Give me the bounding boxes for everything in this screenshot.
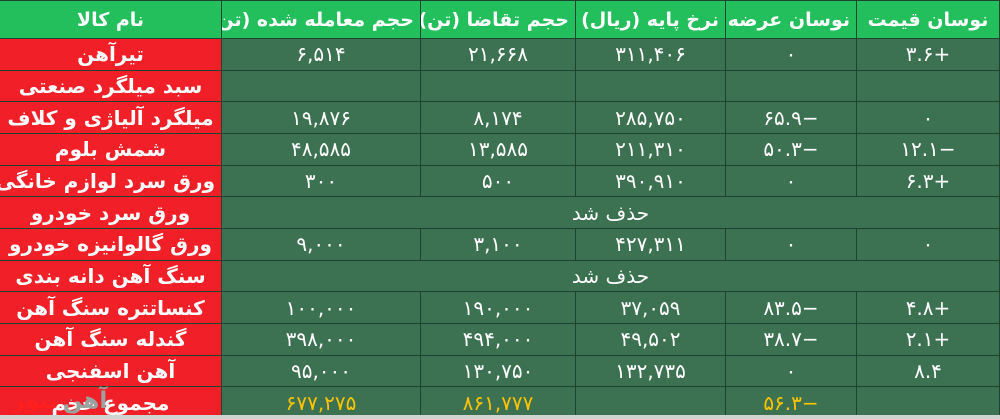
total-cell-traded-volume: ۶۷۷,۲۷۵ [222, 387, 421, 419]
cell-product-name: ورق سرد لوازم خانگی [0, 165, 222, 197]
header-row: نوسان قیمت نوسان عرضه نرخ پایه (ریال) حج… [0, 1, 1000, 39]
cell-supply-change: ۰ [726, 165, 857, 197]
cell-product-name: آهن اسفنجی [0, 355, 222, 387]
cell-base-price: ۲۱۱,۳۱۰ [576, 133, 726, 165]
cell-product-name: گندله سنگ آهن [0, 323, 222, 355]
cell-price-change: ۰ [857, 102, 1000, 134]
cell-traded-volume: ۱۹,۸۷۶ [222, 102, 421, 134]
table-row: ۰−۶۵.۹۲۸۵,۷۵۰۸,۱۷۴۱۹,۸۷۶میلگرد آلیاژی و … [0, 102, 1000, 134]
total-cell-base-price [576, 387, 726, 419]
cell-price-change: +۶.۳ [857, 165, 1000, 197]
cell-traded-volume: ۶,۵۱۴ [222, 39, 421, 71]
cell-price-change: ۸.۴ [857, 355, 1000, 387]
column-header-demand-volume: حجم تقاضا (تن) [421, 1, 576, 39]
cell-base-price: ۴۲۷,۳۱۱ [576, 228, 726, 260]
cell-price-change [857, 70, 1000, 102]
cell-product-name: سبد میلگرد صنعتی [0, 70, 222, 102]
cell-price-change: −۱۲.۱ [857, 133, 1000, 165]
cell-supply-change: −۵۰.۳ [726, 133, 857, 165]
cell-traded-volume [222, 70, 421, 102]
total-cell-price-change [857, 387, 1000, 419]
total-cell-label: مجموع حجم [0, 387, 222, 419]
table-row: حذف شدورق سرد خودرو [0, 197, 1000, 229]
total-cell-supply-change: −۵۶.۳ [726, 387, 857, 419]
table-row: +۲.۱−۳۸.۷۴۹,۵۰۲۴۹۴,۰۰۰۳۹۸,۰۰۰گندله سنگ آ… [0, 323, 1000, 355]
table-row: سبد میلگرد صنعتی [0, 70, 1000, 102]
commodity-trading-table: نوسان قیمت نوسان عرضه نرخ پایه (ریال) حج… [0, 0, 1000, 419]
cell-demand-volume: ۱۳۰,۷۵۰ [421, 355, 576, 387]
cell-price-change: +۲.۱ [857, 323, 1000, 355]
cell-supply-change: −۸۳.۵ [726, 292, 857, 324]
cell-price-change: +۳.۶ [857, 39, 1000, 71]
cell-supply-change: ۰ [726, 355, 857, 387]
bottom-strip [0, 415, 1000, 419]
cell-base-price: ۱۳۲,۷۳۵ [576, 355, 726, 387]
cell-demand-volume: ۳,۱۰۰ [421, 228, 576, 260]
table-row: ۰۰۴۲۷,۳۱۱۳,۱۰۰۹,۰۰۰ورق گالوانیزه خودرو [0, 228, 1000, 260]
cell-price-change: ۰ [857, 228, 1000, 260]
cell-price-change: +۴.۸ [857, 292, 1000, 324]
table-row: +۴.۸−۸۳.۵۳۷,۰۵۹۱۹۰,۰۰۰۱۰۰,۰۰۰کنساتتره سن… [0, 292, 1000, 324]
cell-traded-volume: ۴۸,۵۸۵ [222, 133, 421, 165]
cell-demand-volume [421, 70, 576, 102]
cell-base-price: ۳۱۱,۴۰۶ [576, 39, 726, 71]
column-header-base-price: نرخ پایه (ریال) [576, 1, 726, 39]
cell-product-name: کنساتتره سنگ آهن [0, 292, 222, 324]
column-header-traded-volume: حجم معامله شده (تن) [222, 1, 421, 39]
table-row: −۱۲.۱−۵۰.۳۲۱۱,۳۱۰۱۳,۵۸۵۴۸,۵۸۵شمش بلوم [0, 133, 1000, 165]
column-header-product-name: نام کالا [0, 1, 222, 39]
cell-demand-volume: ۵۰۰ [421, 165, 576, 197]
total-cell-demand-volume: ۸۶۱,۷۷۷ [421, 387, 576, 419]
table-row: ۸.۴۰۱۳۲,۷۳۵۱۳۰,۷۵۰۹۵,۰۰۰آهن اسفنجی [0, 355, 1000, 387]
column-header-price-change: نوسان قیمت [857, 1, 1000, 39]
cell-demand-volume: ۴۹۴,۰۰۰ [421, 323, 576, 355]
cell-product-name: سنگ آهن دانه بندی [0, 260, 222, 292]
cell-demand-volume: ۱۳,۵۸۵ [421, 133, 576, 165]
cell-traded-volume: ۱۰۰,۰۰۰ [222, 292, 421, 324]
cell-demand-volume: ۱۹۰,۰۰۰ [421, 292, 576, 324]
cell-supply-change [726, 70, 857, 102]
cell-demand-volume: ۸,۱۷۴ [421, 102, 576, 134]
removed-notice: حذف شد [222, 260, 1000, 292]
cell-traded-volume: ۹۵,۰۰۰ [222, 355, 421, 387]
cell-product-name: ورق سرد خودرو [0, 197, 222, 229]
cell-base-price: ۲۸۵,۷۵۰ [576, 102, 726, 134]
cell-supply-change: −۳۸.۷ [726, 323, 857, 355]
cell-product-name: تیرآهن [0, 39, 222, 71]
cell-demand-volume: ۲۱,۶۶۸ [421, 39, 576, 71]
cell-supply-change: ۰ [726, 39, 857, 71]
cell-base-price: ۴۹,۵۰۲ [576, 323, 726, 355]
table-total-row: −۵۶.۳۸۶۱,۷۷۷۶۷۷,۲۷۵مجموع حجم [0, 387, 1000, 419]
commodity-table-screenshot: نوسان قیمت نوسان عرضه نرخ پایه (ریال) حج… [0, 0, 1000, 419]
table-row: حذف شدسنگ آهن دانه بندی [0, 260, 1000, 292]
table-body: +۳.۶۰۳۱۱,۴۰۶۲۱,۶۶۸۶,۵۱۴تیرآهنسبد میلگرد … [0, 39, 1000, 419]
table-row: +۳.۶۰۳۱۱,۴۰۶۲۱,۶۶۸۶,۵۱۴تیرآهن [0, 39, 1000, 71]
cell-base-price: ۳۹۰,۹۱۰ [576, 165, 726, 197]
cell-base-price: ۳۷,۰۵۹ [576, 292, 726, 324]
cell-product-name: میلگرد آلیاژی و کلاف [0, 102, 222, 134]
table-header: نوسان قیمت نوسان عرضه نرخ پایه (ریال) حج… [0, 1, 1000, 39]
cell-product-name: شمش بلوم [0, 133, 222, 165]
column-header-supply-change: نوسان عرضه [726, 1, 857, 39]
cell-traded-volume: ۹,۰۰۰ [222, 228, 421, 260]
cell-supply-change: ۰ [726, 228, 857, 260]
cell-supply-change: −۶۵.۹ [726, 102, 857, 134]
cell-product-name: ورق گالوانیزه خودرو [0, 228, 222, 260]
cell-traded-volume: ۳۹۸,۰۰۰ [222, 323, 421, 355]
cell-traded-volume: ۳۰۰ [222, 165, 421, 197]
removed-notice: حذف شد [222, 197, 1000, 229]
table-row: +۶.۳۰۳۹۰,۹۱۰۵۰۰۳۰۰ورق سرد لوازم خانگی [0, 165, 1000, 197]
cell-base-price [576, 70, 726, 102]
